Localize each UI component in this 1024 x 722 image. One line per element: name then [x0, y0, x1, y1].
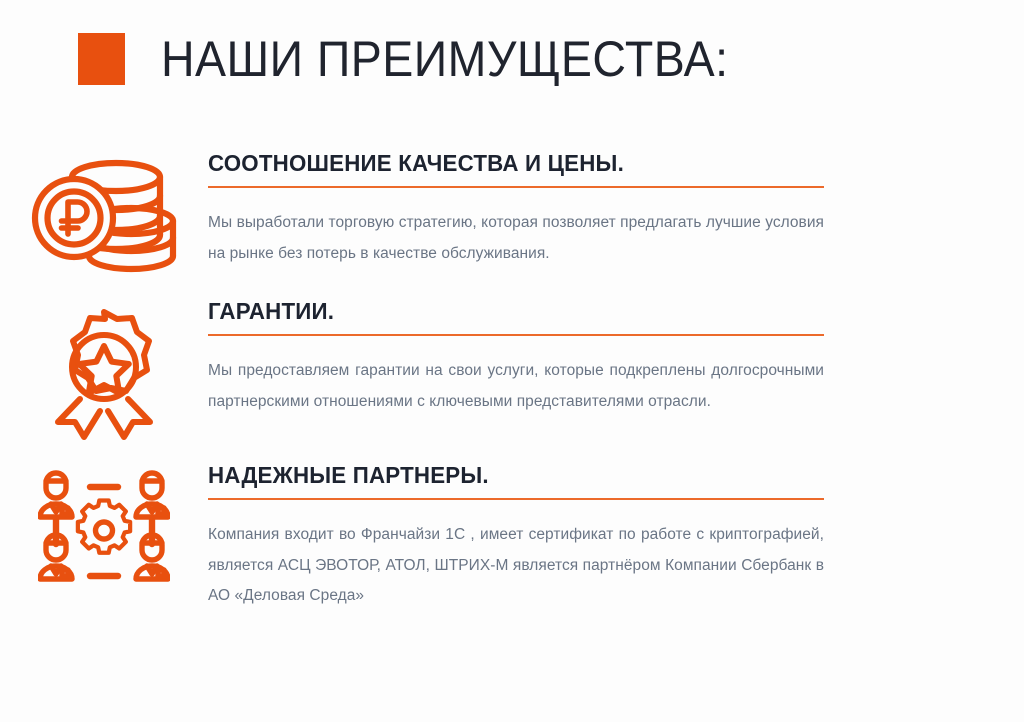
- feature-item: ГАРАНТИИ. Мы предоставляем гарантии на с…: [0, 298, 1024, 440]
- feature-heading: НАДЕЖНЫЕ ПАРТНЕРЫ.: [208, 462, 883, 498]
- orange-square-icon: [78, 33, 125, 85]
- feature-text: Мы предоставляем гарантии на свои услуги…: [208, 356, 824, 416]
- feature-divider: [208, 498, 824, 500]
- feature-item: НАДЕЖНЫЕ ПАРТНЕРЫ. Компания входит во Фр…: [0, 462, 1024, 611]
- feature-content: СООТНОШЕНИЕ КАЧЕСТВА И ЦЕНЫ. Мы выработа…: [208, 150, 1024, 269]
- coins-ruble-icon: [0, 150, 208, 276]
- feature-heading: СООТНОШЕНИЕ КАЧЕСТВА И ЦЕНЫ.: [208, 150, 883, 186]
- feature-divider: [208, 334, 824, 336]
- page-title: НАШИ ПРЕИМУЩЕСТВА:: [161, 34, 729, 84]
- feature-item: СООТНОШЕНИЕ КАЧЕСТВА И ЦЕНЫ. Мы выработа…: [0, 150, 1024, 276]
- feature-text: Мы выработали торговую стратегию, котора…: [208, 208, 824, 268]
- feature-heading: ГАРАНТИИ.: [208, 298, 883, 334]
- feature-content: ГАРАНТИИ. Мы предоставляем гарантии на с…: [208, 298, 1024, 417]
- feature-text: Компания входит во Франчайзи 1С , имеет …: [208, 520, 824, 611]
- award-medal-star-icon: [0, 298, 208, 440]
- feature-content: НАДЕЖНЫЕ ПАРТНЕРЫ. Компания входит во Фр…: [208, 462, 1024, 611]
- page-header: НАШИ ПРЕИМУЩЕСТВА:: [78, 33, 771, 85]
- features-list: СООТНОШЕНИЕ КАЧЕСТВА И ЦЕНЫ. Мы выработа…: [0, 150, 1024, 611]
- advantages-page: НАШИ ПРЕИМУЩЕСТВА:: [0, 0, 1024, 722]
- feature-divider: [208, 186, 824, 188]
- partners-network-gear-icon: [0, 462, 208, 592]
